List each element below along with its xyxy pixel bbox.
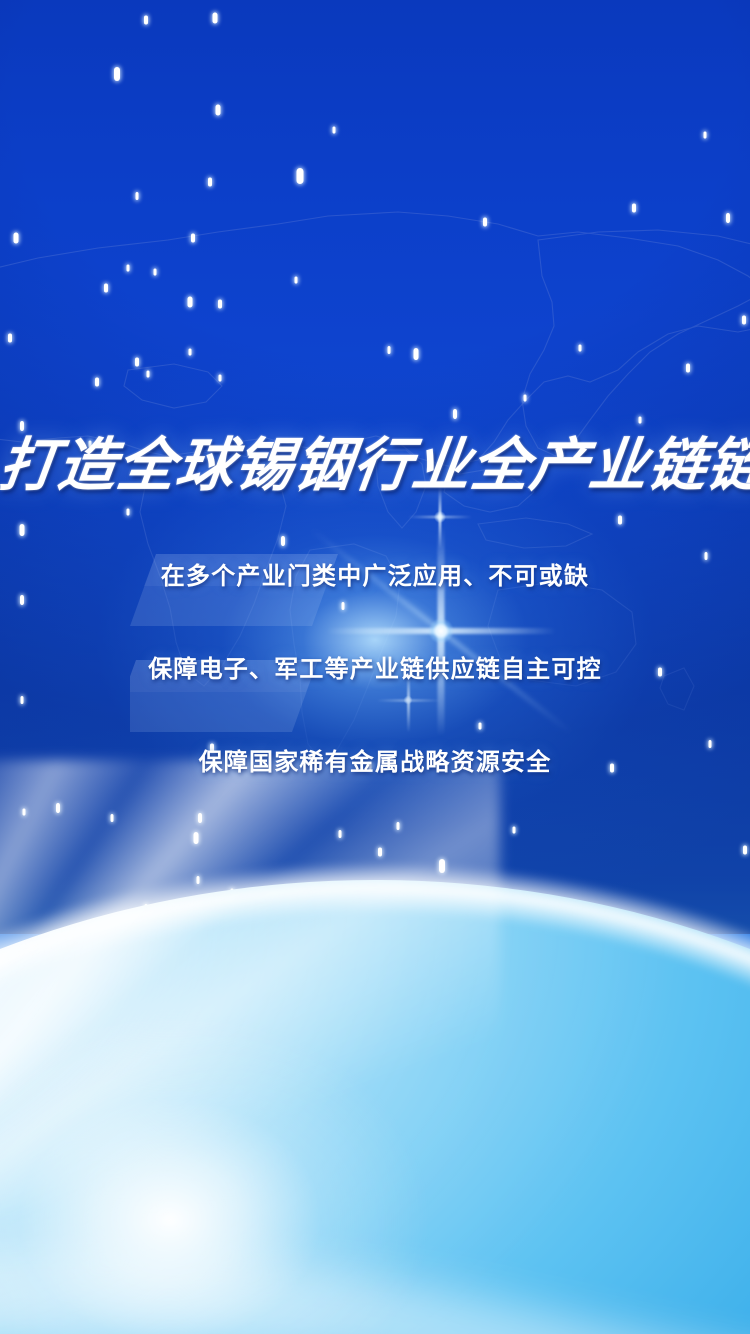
- poster-canvas: 打造全球锡铟行业全产业链链主 在多个产业门类中广泛应用、不可或缺 保障电子、军工…: [0, 0, 750, 1334]
- secondary-flare-icon: [434, 511, 446, 523]
- subtitle-line-3: 保障国家稀有金属战略资源安全: [0, 742, 750, 777]
- subtitle-line-2: 保障电子、军工等产业链供应链自主可控: [0, 649, 750, 684]
- earth-cloud-texture: [0, 880, 750, 1334]
- subtitle-list: 在多个产业门类中广泛应用、不可或缺 保障电子、军工等产业链供应链自主可控 保障国…: [0, 556, 750, 777]
- page-title: 打造全球锡铟行业全产业链链主: [0, 418, 750, 502]
- earth-planet: [0, 880, 750, 1334]
- subtitle-line-1: 在多个产业门类中广泛应用、不可或缺: [0, 556, 750, 591]
